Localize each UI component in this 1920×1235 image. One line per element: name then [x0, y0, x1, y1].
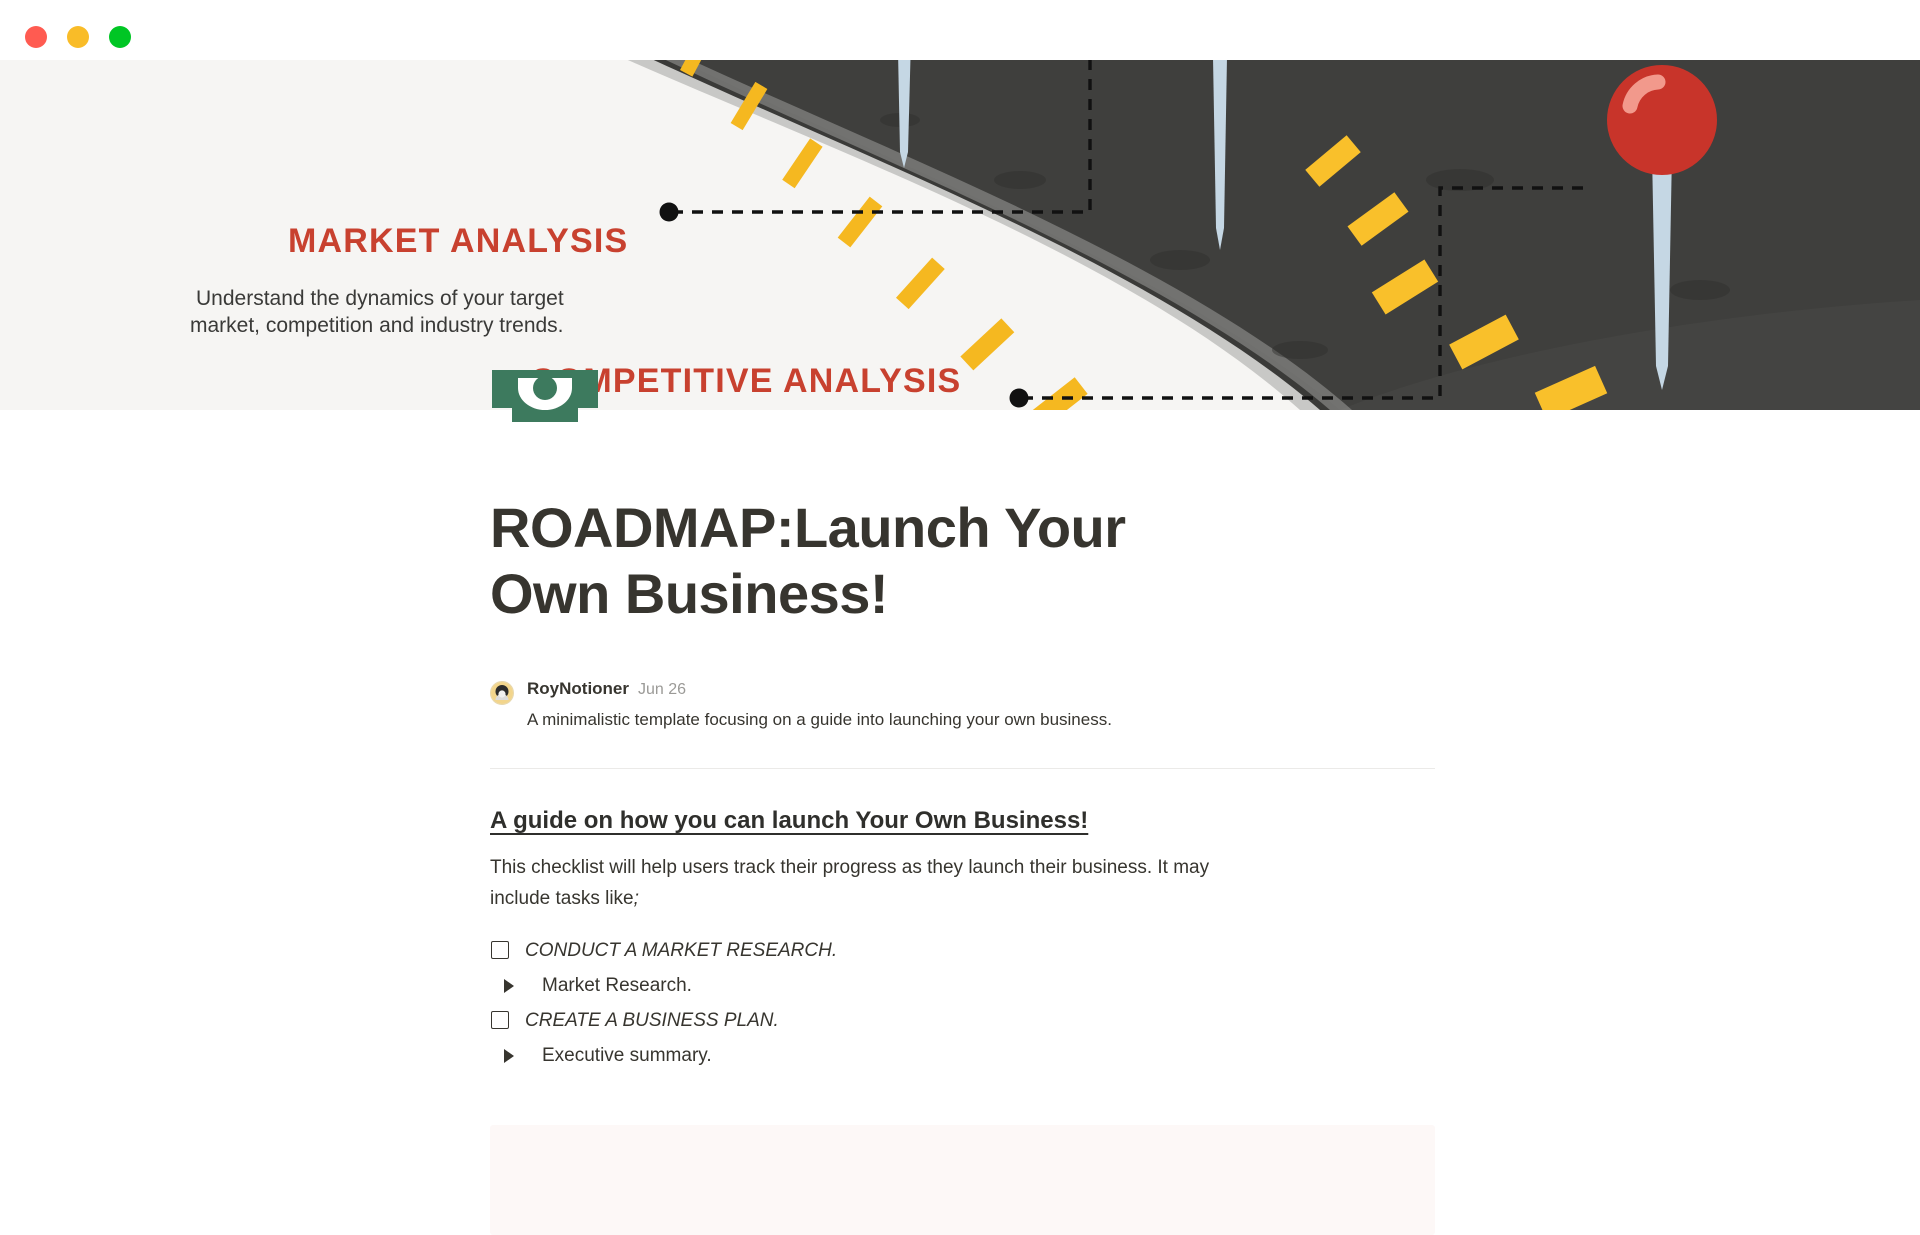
byline-description[interactable]: A minimalistic template focusing on a gu…	[527, 708, 1112, 733]
byline: RoyNotioner Jun 26 A minimalistic templa…	[490, 679, 1435, 733]
content-divider	[490, 768, 1435, 769]
page-title[interactable]: ROADMAP:Launch Your Own Business!	[490, 495, 1210, 627]
list-item[interactable]: CONDUCT A MARKET RESEARCH.	[490, 934, 1435, 968]
list-item-label: Executive summary.	[542, 1042, 712, 1070]
list-item[interactable]: Market Research.	[490, 969, 1435, 1003]
chevron-right-icon[interactable]	[502, 1047, 520, 1065]
page-cover-banner[interactable]: MARKET ANALYSIS Understand the dynamics …	[0, 60, 1920, 410]
banner-callout-body-market-line2: market, competition and industry trends.	[190, 314, 564, 337]
competitive-analysis-anchor-dot	[1010, 389, 1029, 408]
banner-callout-title-market: MARKET ANALYSIS	[288, 222, 628, 260]
list-item-label: CONDUCT A MARKET RESEARCH.	[525, 937, 837, 965]
list-item[interactable]: CREATE A BUSINESS PLAN.	[490, 1004, 1435, 1038]
close-window-button[interactable]	[25, 26, 47, 48]
checkbox-conduct-market-research[interactable]	[491, 941, 509, 959]
byline-author[interactable]: RoyNotioner	[527, 679, 629, 699]
window-title-bar	[0, 0, 1920, 60]
section-heading[interactable]: A guide on how you can launch Your Own B…	[490, 807, 1088, 835]
money-icon	[492, 370, 598, 422]
avatar-face-icon	[491, 682, 513, 704]
list-item-label: Market Research.	[542, 972, 692, 1000]
banner-callout-body-market-line1: Understand the dynamics of your target	[196, 287, 564, 310]
minimize-window-button[interactable]	[67, 26, 89, 48]
document-body: ROADMAP:Launch Your Own Business! RoyNot…	[0, 410, 1920, 1200]
checklist: CONDUCT A MARKET RESEARCH. Market Resear…	[490, 934, 1435, 1073]
roadmap-illustration: MARKET ANALYSIS Understand the dynamics …	[0, 60, 1920, 410]
market-analysis-anchor-dot	[660, 203, 679, 222]
intro-paragraph-tail: ;	[634, 888, 639, 909]
byline-date: Jun 26	[638, 681, 686, 699]
intro-paragraph[interactable]: This checklist will help users track the…	[490, 853, 1250, 915]
avatar[interactable]	[490, 681, 514, 705]
chevron-right-icon[interactable]	[502, 977, 520, 995]
page-icon-money[interactable]	[492, 370, 598, 422]
callout-block[interactable]	[490, 1125, 1435, 1235]
list-item-label: CREATE A BUSINESS PLAN.	[525, 1007, 779, 1035]
maximize-window-button[interactable]	[109, 26, 131, 48]
intro-paragraph-lead: This checklist will help users track the…	[490, 857, 1209, 909]
traffic-light-group	[25, 26, 131, 48]
list-item[interactable]: Executive summary.	[490, 1039, 1435, 1073]
checkbox-create-business-plan[interactable]	[491, 1011, 509, 1029]
